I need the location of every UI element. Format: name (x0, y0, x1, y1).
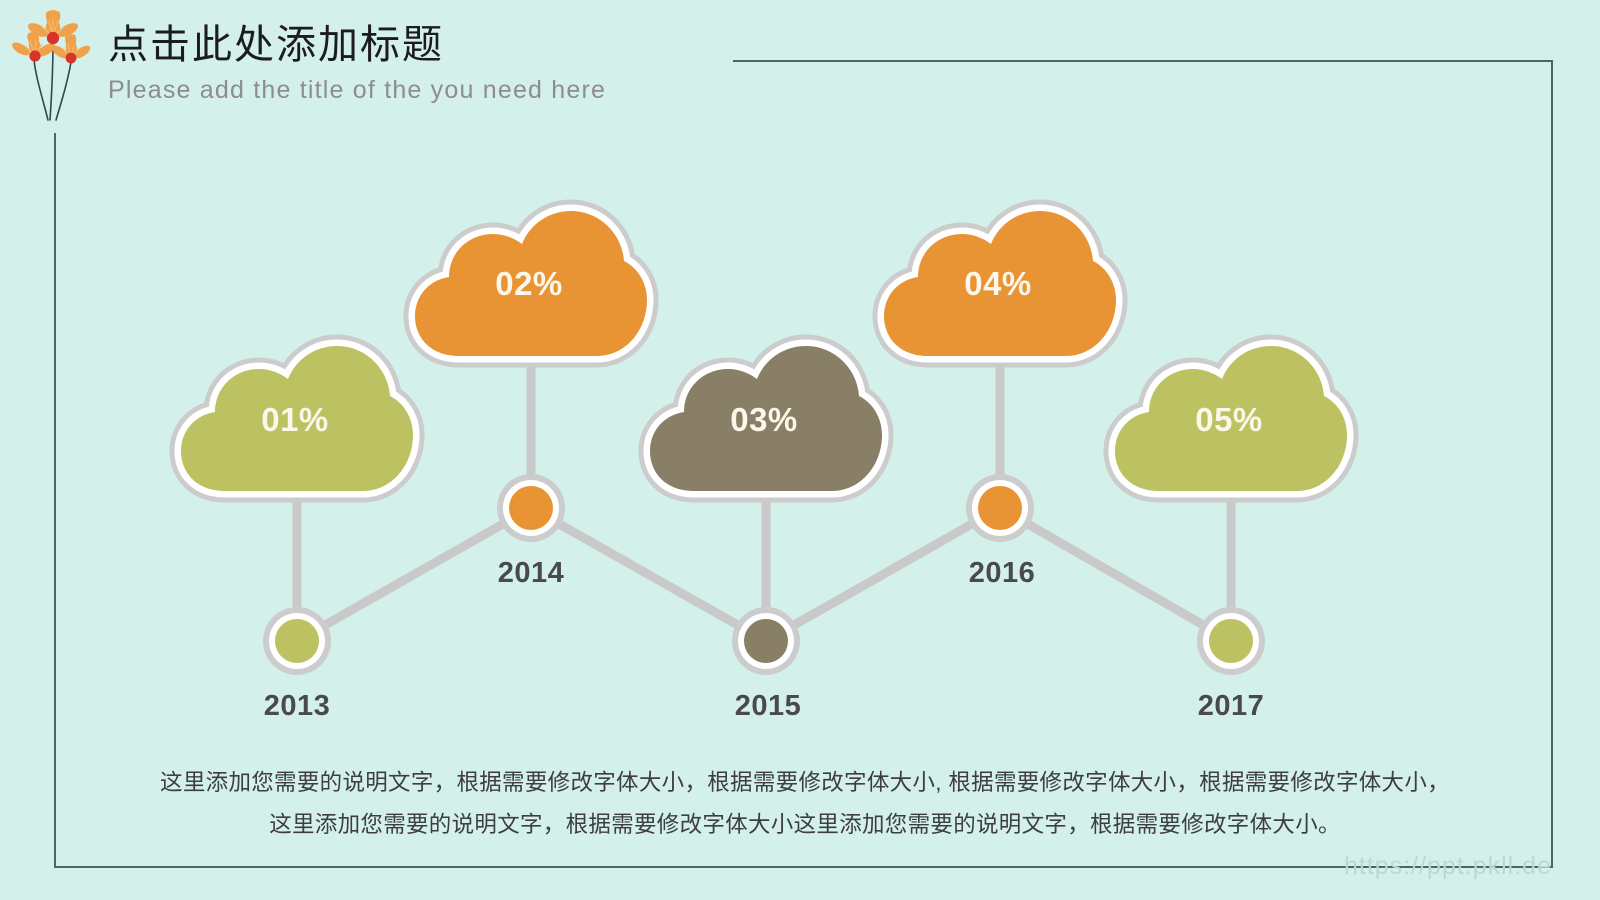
watermark: https://ppt.pkll.de (1344, 852, 1552, 881)
year-label-2016: 2016 (969, 557, 1036, 590)
year-label-2015: 2015 (735, 690, 802, 723)
year-label-2014: 2014 (498, 557, 565, 590)
year-label-2013: 2013 (264, 690, 331, 723)
description-text: 这里添加您需要的说明文字，根据需要修改字体大小，根据需要修改字体大小, 根据需要… (150, 762, 1460, 845)
cloud-03[interactable] (650, 346, 882, 491)
year-label-2017: 2017 (1198, 690, 1265, 723)
cloud-04[interactable] (884, 211, 1116, 356)
timeline-node-2017[interactable] (1197, 607, 1265, 675)
cloud-05[interactable] (1115, 346, 1347, 491)
slide: 点击此处添加标题 Please add the title of the you… (0, 0, 1600, 900)
timeline-node-2014[interactable] (497, 474, 565, 542)
cloud-02[interactable] (415, 211, 647, 356)
timeline-node-2015[interactable] (732, 607, 800, 675)
timeline-node-2013[interactable] (263, 607, 331, 675)
timeline-node-2016[interactable] (966, 474, 1034, 542)
cloud-01[interactable] (181, 346, 413, 491)
